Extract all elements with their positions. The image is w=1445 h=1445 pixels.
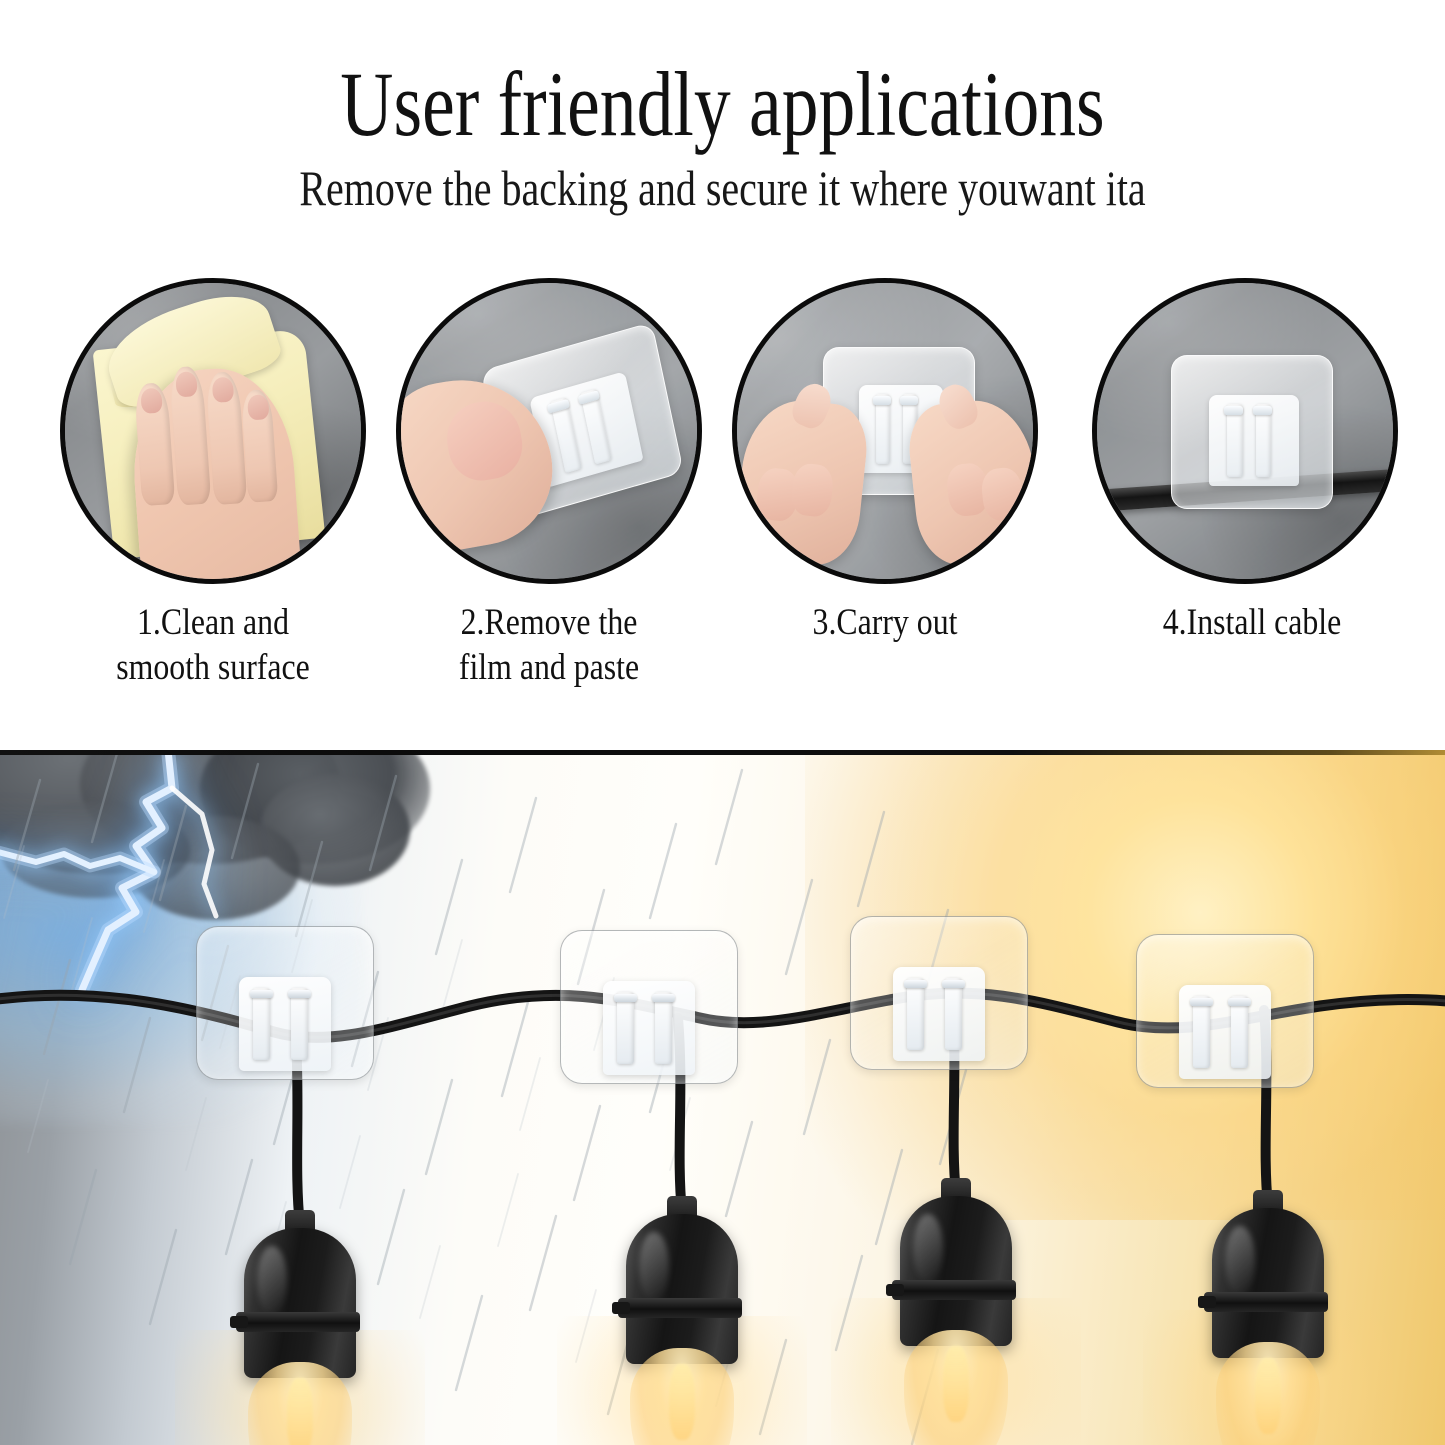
- step-item-4: [1092, 278, 1398, 584]
- light-bulb-3: [900, 1178, 1012, 1358]
- step-photo-3: [732, 278, 1038, 584]
- step-item-3: [732, 278, 1038, 584]
- step-circles-row: [0, 278, 1445, 590]
- section-divider: [0, 750, 1445, 755]
- step-item-2: [396, 278, 702, 584]
- step-caption-2: 2.Remove the film and paste: [396, 600, 702, 690]
- step-item-1: [60, 278, 366, 584]
- light-bulb-2: [626, 1196, 738, 1376]
- step-caption-3: 3.Carry out: [732, 600, 1038, 645]
- step-photo-4: [1092, 278, 1398, 584]
- step-caption-1: 1.Clean and smooth surface: [60, 600, 366, 690]
- adhesive-clip-icon: [1171, 355, 1331, 507]
- step-caption-4: 4.Install cable: [1092, 600, 1412, 645]
- page-subtitle: Remove the backing and secure it where y…: [145, 162, 1301, 215]
- lifestyle-scene: [0, 750, 1445, 1445]
- light-bulb-4: [1212, 1190, 1324, 1370]
- product-infographic: User friendly applications Remove the ba…: [0, 0, 1445, 1445]
- wall-clip-2: [560, 930, 738, 1084]
- step-photo-1: [60, 278, 366, 584]
- light-bulb-1: [244, 1210, 356, 1390]
- instructions-section: User friendly applications Remove the ba…: [0, 0, 1445, 750]
- page-title: User friendly applications: [145, 58, 1301, 152]
- wall-clip-4: [1136, 934, 1314, 1088]
- step-photo-2: [396, 278, 702, 584]
- wall-clip-1: [196, 926, 374, 1080]
- string-light-assembly: [0, 750, 1445, 1445]
- wall-clip-3: [850, 916, 1028, 1070]
